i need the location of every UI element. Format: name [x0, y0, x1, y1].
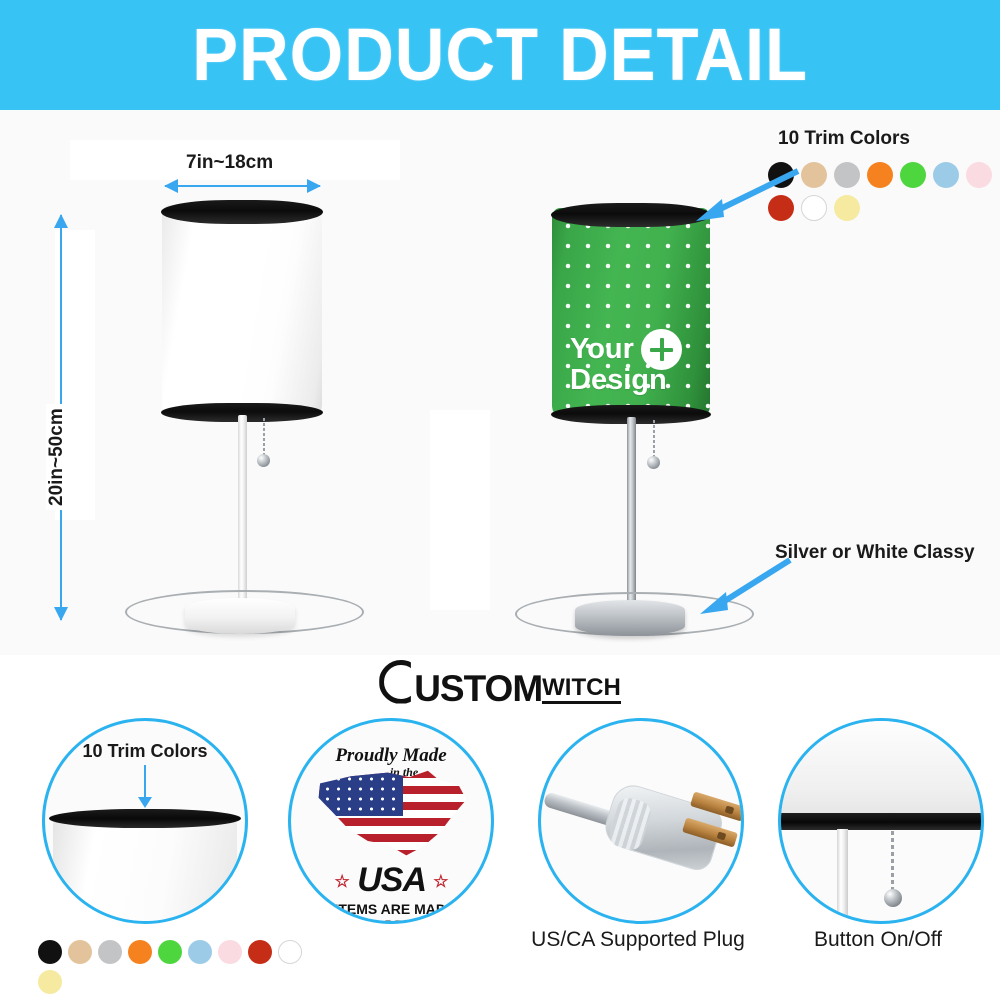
background-patch	[430, 410, 490, 610]
trim-colors-label: 10 Trim Colors	[778, 128, 910, 150]
trim-color-swatch-red[interactable]	[248, 940, 272, 964]
trim-color-swatch-orange[interactable]	[867, 162, 893, 188]
pull-chain	[263, 418, 265, 456]
trim-closeup	[49, 809, 241, 828]
plus-icon	[641, 329, 682, 370]
trim-color-swatch-orange[interactable]	[128, 940, 152, 964]
pull-chain	[653, 420, 655, 458]
trim-color-swatch-white[interactable]	[278, 940, 302, 964]
height-dimension-label: 20in~50cm	[46, 404, 68, 510]
header-banner: PRODUCT DETAIL	[0, 0, 1000, 110]
lamp-shade-green: Your Design	[552, 208, 710, 416]
bottom-trim-color-swatch-row	[38, 940, 306, 994]
trim-color-swatch-gray[interactable]	[834, 162, 860, 188]
shade-closeup	[53, 817, 237, 924]
lamp-base-white	[185, 598, 295, 634]
logo-primary-text: USTOM	[414, 672, 542, 706]
pull-chain-ball[interactable]	[257, 454, 270, 467]
feature-circle: 10 Trim Colors	[42, 718, 248, 924]
shade-trim-top	[161, 200, 323, 224]
main-stage: 7in~18cm 20in~50cm Your Design	[0, 110, 1000, 655]
trim-color-swatch-yellow[interactable]	[834, 195, 860, 221]
usa-map-flag-icon	[317, 769, 471, 859]
trim-color-swatch-green[interactable]	[900, 162, 926, 188]
feature-circle: Proudly Made in the ☆ USA ☆ ALL ITEMS AR…	[288, 718, 494, 924]
lamp-pole	[238, 415, 247, 610]
shade-trim-top	[551, 203, 711, 227]
pull-chain	[891, 831, 894, 891]
base-finish-label: Silver or White Classy	[775, 542, 975, 564]
your-design-text: Your Design	[552, 334, 710, 396]
trim-color-swatch-tan[interactable]	[68, 940, 92, 964]
pull-chain-ball[interactable]	[647, 456, 660, 469]
shade-surface	[162, 205, 322, 415]
lamp-shade-white	[162, 205, 322, 415]
brand-logo: USTOM WITCH	[0, 655, 1000, 710]
star-icon: ☆	[433, 872, 447, 891]
trim-closeup	[778, 813, 984, 830]
pull-chain-ball[interactable]	[884, 889, 902, 907]
product-detail-page: PRODUCT DETAIL 7in~18cm 20in~50cm	[0, 0, 1000, 1000]
trim-color-swatch-pink[interactable]	[966, 162, 992, 188]
feature-circle	[778, 718, 984, 924]
page-title: PRODUCT DETAIL	[192, 18, 808, 92]
star-icon: ☆	[335, 872, 349, 891]
trim-color-swatch-light-blue[interactable]	[933, 162, 959, 188]
down-arrow-icon	[144, 765, 146, 799]
usa-line-1: Proudly Made	[335, 745, 446, 766]
usa-subtext: ALL ITEMS ARE MADE TO ORDER!	[291, 901, 491, 924]
trim-color-swatch-yellow[interactable]	[38, 970, 62, 994]
logo-secondary-text: WITCH	[542, 676, 621, 704]
trim-color-swatch-black[interactable]	[38, 940, 62, 964]
feature-circle	[538, 718, 744, 924]
shade-closeup	[778, 718, 984, 821]
trim-color-swatch-pink[interactable]	[218, 940, 242, 964]
trim-color-swatch-light-blue[interactable]	[188, 940, 212, 964]
design-line-1: Your	[570, 333, 634, 365]
lamp-base-silver	[575, 600, 685, 636]
design-line-2: Design	[570, 364, 667, 396]
trim-pointer-arrow-icon	[690, 165, 810, 225]
shade-surface: Your Design	[552, 208, 710, 416]
width-dimension-label: 7in~18cm	[182, 152, 277, 174]
trim-color-swatch-green[interactable]	[158, 940, 182, 964]
usa-word: ☆ USA ☆	[291, 861, 491, 900]
button-caption: Button On/Off	[766, 928, 990, 952]
width-dimension-arrow	[165, 185, 320, 187]
usa-text: USA	[357, 861, 425, 899]
plug-caption: US/CA Supported Plug	[506, 928, 770, 952]
lamp-pole	[627, 417, 636, 612]
trim-color-swatch-gray[interactable]	[98, 940, 122, 964]
trim-colors-inner-label: 10 Trim Colors	[45, 741, 245, 762]
pole-closeup	[837, 829, 848, 924]
base-pointer-arrow-icon	[690, 550, 800, 620]
